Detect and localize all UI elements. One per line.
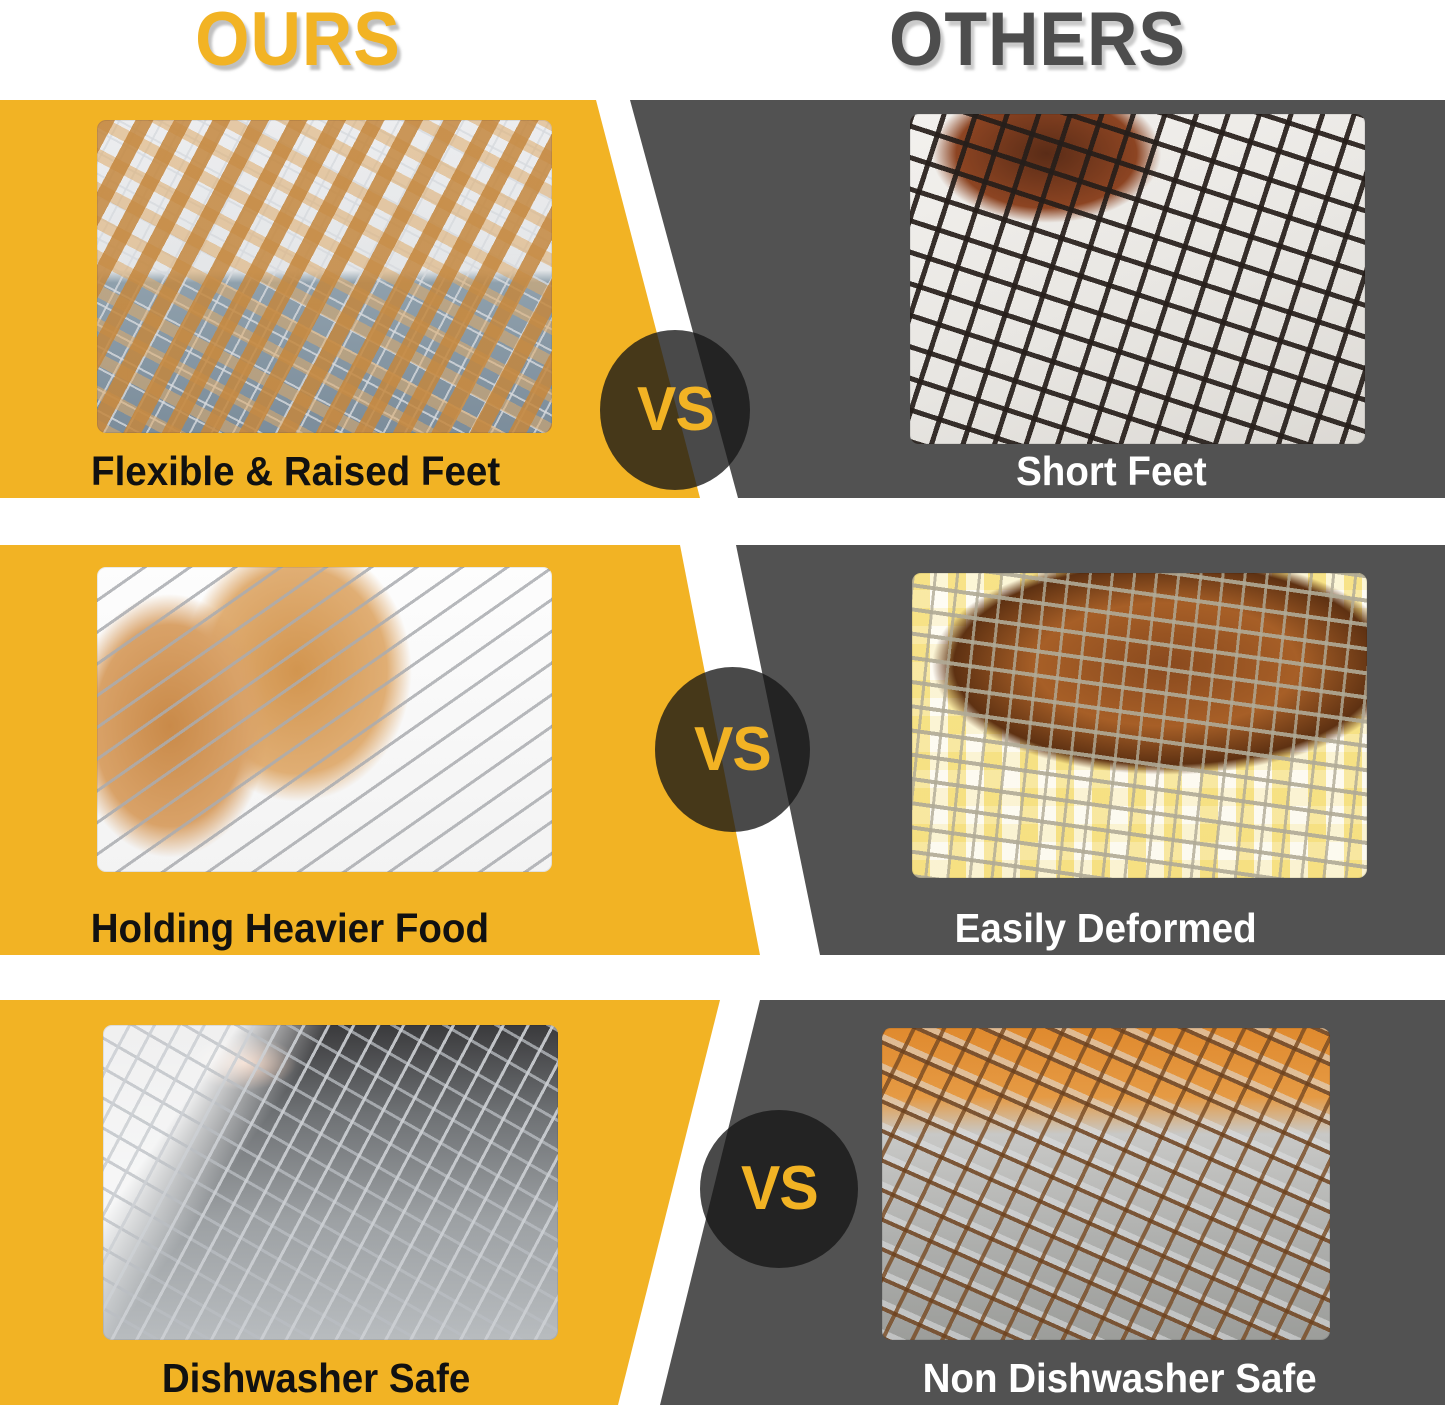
others-photo-row-1 — [910, 114, 1365, 444]
header-title-others: OTHERS — [663, 2, 1413, 78]
ours-caption-row-3: Dishwasher Safe — [162, 1358, 470, 1399]
others-caption-row-2: Easily Deformed — [955, 908, 1257, 949]
ours-panel-row-3: Dishwasher Safe — [0, 1000, 720, 1405]
vs-badge-row-3: VS — [700, 1110, 858, 1268]
comparison-row-3: Dishwasher Safe Non Dishwasher Safe VS — [0, 1000, 1445, 1405]
vs-label-row-2: VS — [694, 719, 771, 781]
ours-caption-row-2: Holding Heavier Food — [91, 908, 489, 949]
comparison-header: OURS OTHERS — [0, 0, 1445, 100]
ours-photo-row-2 — [97, 567, 552, 872]
others-panel-row-2: Easily Deformed — [700, 545, 1445, 955]
vs-badge-row-2: VS — [655, 667, 810, 832]
others-caption-row-3: Non Dishwasher Safe — [923, 1358, 1317, 1399]
ours-photo-row-1 — [97, 120, 552, 433]
vs-label-row-3: VS — [741, 1158, 818, 1220]
header-title-ours: OURS — [24, 2, 572, 78]
ours-panel-row-1: Flexible & Raised Feet — [0, 100, 700, 498]
ours-panel-row-2: Holding Heavier Food — [0, 545, 760, 955]
vs-label-row-1: VS — [637, 379, 714, 441]
vs-badge-row-1: VS — [600, 330, 750, 490]
comparison-row-2: Holding Heavier Food Easily Deformed VS — [0, 545, 1445, 955]
ours-caption-row-1: Flexible & Raised Feet — [91, 451, 500, 492]
others-photo-row-3 — [882, 1028, 1330, 1340]
comparison-row-1: Flexible & Raised Feet Short Feet VS — [0, 100, 1445, 498]
others-photo-row-2 — [912, 573, 1367, 878]
ours-photo-row-3 — [103, 1025, 558, 1340]
others-caption-row-1: Short Feet — [1016, 451, 1207, 492]
